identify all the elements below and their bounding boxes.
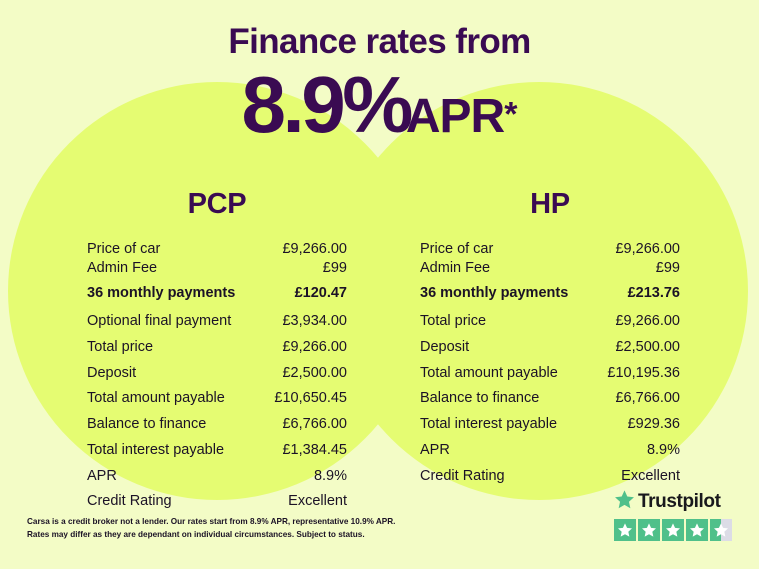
row-value: £9,266.00 [615,240,680,259]
row-value: £3,934.00 [282,312,347,331]
star-filled-icon [686,519,708,541]
finance-column-hp: HP Price of car£9,266.00Admin Fee£9936 m… [395,188,705,489]
row-value: £6,766.00 [282,415,347,434]
trustpilot-wordmark: Trustpilot [638,491,721,513]
trustpilot-badge[interactable]: Trustpilot [614,489,739,541]
hero-rate: 8.9%APR* [0,65,759,145]
disclaimer: Carsa is a credit broker not a lender. O… [27,516,447,541]
row-label: Balance to finance [420,389,539,408]
hero-rate-value: 8.9% [242,60,410,149]
row-value: £9,266.00 [282,240,347,259]
row-value: £10,650.45 [274,389,347,408]
table-row: Total amount payable£10,650.45 [87,386,347,412]
row-value: £2,500.00 [615,338,680,357]
table-row: APR8.9% [420,437,680,463]
table-row: Price of car£9,266.00 [420,239,680,259]
table-row: Optional final payment£3,934.00 [87,309,347,335]
row-label: 36 monthly payments [420,284,568,303]
row-value: £9,266.00 [282,338,347,357]
table-row: Admin Fee£99 [87,259,347,279]
promo-content: Finance rates from 8.9%APR* PCP Price of… [0,0,759,569]
row-value: 8.9% [647,441,680,460]
row-value: £10,195.36 [607,364,680,383]
finance-table-pcp: Price of car£9,266.00Admin Fee£9936 mont… [87,239,347,515]
hero-rate-asterisk: * [504,96,517,134]
row-label: Optional final payment [87,312,231,331]
table-row: 36 monthly payments£120.47 [87,278,347,309]
row-label: Balance to finance [87,415,206,434]
finance-table-hp: Price of car£9,266.00Admin Fee£9936 mont… [420,239,680,489]
table-row: Admin Fee£99 [420,259,680,279]
row-label: APR [87,467,117,486]
row-label: Price of car [420,240,493,259]
table-row: Total interest payable£929.36 [420,412,680,438]
table-row: Deposit£2,500.00 [420,334,680,360]
finance-column-pcp: PCP Price of car£9,266.00Admin Fee£9936 … [62,188,372,515]
row-label: Deposit [87,364,136,383]
column-heading-hp: HP [395,188,705,221]
table-row: Deposit£2,500.00 [87,360,347,386]
row-label: APR [420,441,450,460]
trustpilot-star-rating [614,519,739,541]
table-row: Credit RatingExcellent [87,489,347,515]
table-row: Price of car£9,266.00 [87,239,347,259]
star-filled-icon [638,519,660,541]
row-label: Price of car [87,240,160,259]
row-label: Total interest payable [87,441,224,460]
table-row: Credit RatingExcellent [420,463,680,489]
table-row: APR8.9% [87,463,347,489]
page-title: Finance rates from [0,22,759,62]
trustpilot-wordmark-row: Trustpilot [614,489,739,515]
row-label: Total price [420,312,486,331]
row-label: Admin Fee [87,259,157,278]
row-label: Total price [87,338,153,357]
row-value: £99 [656,259,680,278]
row-value: Excellent [288,492,347,511]
table-row: Balance to finance£6,766.00 [87,412,347,438]
row-label: 36 monthly payments [87,284,235,303]
row-label: Credit Rating [420,467,505,486]
disclaimer-line-2: Rates may differ as they are dependant o… [27,529,447,542]
row-label: Credit Rating [87,492,172,511]
row-value: £213.76 [628,284,680,303]
row-value: £9,266.00 [615,312,680,331]
table-row: 36 monthly payments£213.76 [420,278,680,309]
promo-canvas: Finance rates from 8.9%APR* PCP Price of… [0,0,759,569]
row-value: £6,766.00 [615,389,680,408]
row-label: Deposit [420,338,469,357]
row-value: £99 [323,259,347,278]
star-filled-icon [614,519,636,541]
row-label: Total interest payable [420,415,557,434]
row-value: £929.36 [628,415,680,434]
star-icon [614,489,635,515]
star-filled-icon [662,519,684,541]
table-row: Total interest payable£1,384.45 [87,437,347,463]
row-value: £120.47 [295,284,347,303]
row-value: £2,500.00 [282,364,347,383]
star-half-icon [710,519,732,541]
row-value: Excellent [621,467,680,486]
table-row: Total amount payable£10,195.36 [420,360,680,386]
disclaimer-line-1: Carsa is a credit broker not a lender. O… [27,516,447,529]
hero-rate-unit: APR [406,90,504,143]
column-heading-pcp: PCP [62,188,372,221]
table-row: Balance to finance£6,766.00 [420,386,680,412]
row-label: Admin Fee [420,259,490,278]
row-value: £1,384.45 [282,441,347,460]
table-row: Total price£9,266.00 [420,309,680,335]
row-label: Total amount payable [420,364,558,383]
table-row: Total price£9,266.00 [87,334,347,360]
row-value: 8.9% [314,467,347,486]
row-label: Total amount payable [87,389,225,408]
